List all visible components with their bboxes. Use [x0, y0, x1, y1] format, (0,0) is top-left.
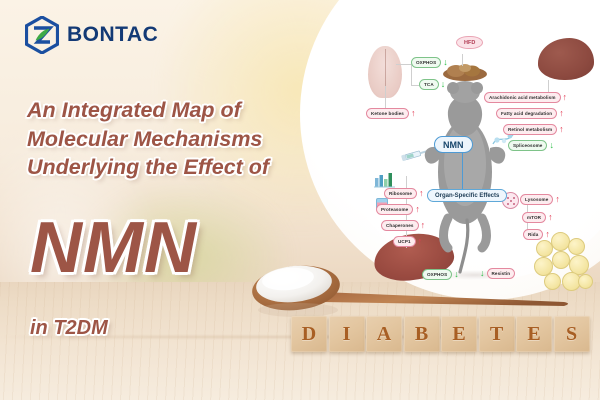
letter-block: E [516, 316, 552, 352]
letter-block: S [554, 316, 590, 352]
arrow-down-icon: ↓ [454, 271, 459, 277]
ribosome-illustration [374, 172, 396, 188]
letter-block: E [441, 316, 477, 352]
node-label: Fatty acid degradation [496, 108, 557, 119]
node-label: UCP1 [393, 236, 416, 247]
node-chaperones[interactable]: Chaperones ↑ [381, 220, 425, 231]
node-ketone-bodies[interactable]: Ketone bodies ↑ [366, 108, 415, 119]
hexagon-leaf-logo-icon [25, 16, 59, 54]
arrow-up-icon: ↑ [548, 214, 553, 220]
node-organ-specific-effects[interactable]: Organ-Specific Effects [427, 189, 507, 202]
arrow-up-icon: ↑ [421, 222, 426, 228]
letter-block: B [404, 316, 440, 352]
arrow-up-icon: ↑ [418, 238, 423, 244]
headline-line-3: Underlying the Effect of [27, 153, 327, 182]
node-hfd[interactable]: HFD [456, 36, 483, 49]
headline-subtitle: in T2DM [30, 318, 108, 338]
molecular-mechanism-diagram: OXPHOS ↓ TCA ↓ Ketone bodies ↑ Arachidon… [362, 24, 600, 302]
node-label: mTOR [522, 212, 546, 223]
poster-canvas: BONTAC An Integrated Map of Molecular Me… [0, 0, 600, 400]
liver-illustration-right [538, 38, 594, 80]
diabetes-letter-blocks: D I A B E T E S [291, 316, 590, 352]
node-label: Ketone bodies [366, 108, 409, 119]
node-ucp1[interactable]: UCP1 ↑ [393, 236, 422, 247]
node-label: OXPHOS [422, 269, 452, 280]
letter-block: T [479, 316, 515, 352]
node-fatty-acid-degradation[interactable]: Fatty acid degradation ↑ [496, 108, 564, 119]
node-spliceosome[interactable]: Spliceosome ↓ [508, 140, 554, 151]
connector [396, 64, 412, 65]
arrow-up-icon: ↑ [555, 196, 560, 202]
node-label: Resistin [487, 268, 516, 279]
letter-block: I [329, 316, 365, 352]
node-label: Ribosome [384, 188, 417, 199]
node-label: TCA [419, 79, 439, 90]
arrow-down-icon: ↓ [549, 142, 554, 148]
arrow-down-icon: ↓ [443, 59, 448, 65]
node-label: Spliceosome [508, 140, 547, 151]
arrow-up-icon: ↑ [415, 206, 420, 212]
arrow-down-icon: ↓ [441, 81, 446, 87]
node-label: Rida [523, 229, 543, 240]
arrow-up-icon: ↑ [411, 110, 416, 116]
headline-line-1: An Integrated Map of [27, 96, 327, 125]
brand-name: BONTAC [67, 23, 158, 47]
connector [411, 85, 419, 86]
node-tca[interactable]: TCA ↓ [419, 79, 445, 90]
node-label: Retinol metabolism [503, 124, 557, 135]
brand-logo[interactable]: BONTAC [25, 16, 158, 54]
letter-block: A [366, 316, 402, 352]
arrow-down-icon: ↓ [480, 270, 485, 276]
node-label: Arachidonic acid metabolism [484, 92, 561, 103]
node-label: Lysosome [520, 194, 553, 205]
node-resistin[interactable]: ↓ Resistin [480, 268, 515, 279]
node-oxphos-brain[interactable]: OXPHOS ↓ [411, 57, 448, 68]
arrow-up-icon: ↑ [559, 126, 564, 132]
node-nmn[interactable]: NMN [434, 136, 473, 153]
node-retinol-metabolism[interactable]: Retinol metabolism ↑ [503, 124, 564, 135]
page-title: An Integrated Map of Molecular Mechanism… [27, 96, 327, 182]
node-label: Chaperones [381, 220, 419, 231]
node-oxphos-liver[interactable]: OXPHOS ↓ [422, 269, 459, 280]
node-ribosome[interactable]: Ribosome ↑ [384, 188, 424, 199]
arrow-up-icon: ↑ [545, 231, 550, 237]
connector [462, 54, 463, 66]
arrow-up-icon: ↑ [563, 94, 568, 100]
node-rida[interactable]: Rida ↑ [523, 229, 550, 240]
arrow-up-icon: ↑ [559, 110, 564, 116]
node-proteasome[interactable]: Proteasome ↑ [376, 204, 420, 215]
node-arachidonic-acid-metabolism[interactable]: Arachidonic acid metabolism ↑ [484, 92, 567, 103]
node-lysosome[interactable]: Lysosome ↑ [520, 194, 560, 205]
node-label: Proteasome [376, 204, 413, 215]
node-label: OXPHOS [411, 57, 441, 68]
letter-block: D [291, 316, 327, 352]
node-mtor[interactable]: mTOR ↑ [522, 212, 553, 223]
headline-line-2: Molecular Mechanisms [27, 125, 327, 154]
headline-emphasis-nmn: NMN [30, 212, 197, 284]
arrow-up-icon: ↑ [419, 190, 424, 196]
